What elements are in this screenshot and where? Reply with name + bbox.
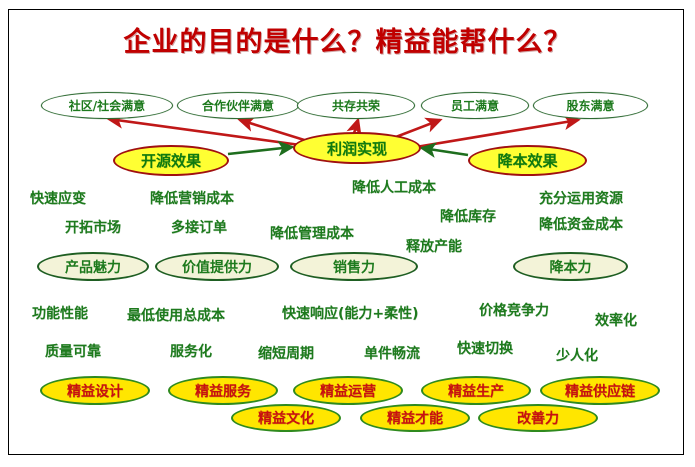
lean-node-6[interactable]: 精益文化 <box>231 404 341 432</box>
profit-node-2[interactable]: 利润实现 <box>293 132 421 164</box>
effect-text-2: 降低营销成本 <box>150 188 234 208</box>
driver-text-8: 缩短周期 <box>258 343 314 363</box>
stakeholder-node-4[interactable]: 员工满意 <box>421 92 529 119</box>
stakeholder-node-3[interactable]: 共存共荣 <box>297 92 415 119</box>
stakeholder-node-2[interactable]: 合作伙伴满意 <box>177 92 299 119</box>
lean-node-8[interactable]: 改善力 <box>478 404 598 432</box>
effect-text-4: 充分运用资源 <box>539 188 623 208</box>
lean-node-1[interactable]: 精益设计 <box>40 376 150 405</box>
lean-node-7[interactable]: 精益才能 <box>360 404 470 432</box>
effect-text-3: 降低人工成本 <box>352 177 436 197</box>
page-title: 企业的目的是什么？精益能帮什么？ <box>0 20 695 59</box>
driver-text-5: 效率化 <box>595 310 637 330</box>
driver-text-11: 少人化 <box>556 345 598 365</box>
effect-text-6: 多接订单 <box>171 217 227 237</box>
effect-text-9: 降低资金成本 <box>539 214 623 234</box>
arrow-profit-to-community <box>109 119 322 148</box>
profit-node-1[interactable]: 开源效果 <box>113 145 229 176</box>
stakeholder-node-5[interactable]: 股东满意 <box>533 92 648 119</box>
lean-node-3[interactable]: 精益运营 <box>293 376 403 405</box>
driver-text-4: 价格竞争力 <box>479 300 549 320</box>
effect-text-8: 降低库存 <box>440 206 496 226</box>
driver-text-2: 最低使用总成本 <box>127 305 225 325</box>
capability-node-3[interactable]: 销售力 <box>290 252 418 281</box>
effect-text-5: 开拓市场 <box>65 217 121 237</box>
arrow-cost-to-profit <box>422 148 468 155</box>
driver-text-6: 质量可靠 <box>45 341 101 361</box>
stakeholder-node-1[interactable]: 社区/社会满意 <box>41 92 173 119</box>
profit-node-3[interactable]: 降本效果 <box>468 145 587 176</box>
driver-text-9: 单件畅流 <box>364 343 420 363</box>
capability-node-1[interactable]: 产品魅力 <box>37 252 149 281</box>
lean-node-5[interactable]: 精益供应链 <box>540 376 660 405</box>
driver-text-7: 服务化 <box>170 341 212 361</box>
driver-text-3: 快速响应(能力+柔性) <box>282 303 419 323</box>
diagram-canvas: 企业的目的是什么？精益能帮什么？ 社区/社会满意合作伙伴满意共存共荣员工满意股东… <box>0 0 695 467</box>
driver-text-10: 快速切换 <box>457 338 513 358</box>
driver-text-1: 功能性能 <box>32 303 88 323</box>
arrow-revenue-to-profit <box>228 147 292 154</box>
capability-node-2[interactable]: 价值提供力 <box>155 252 279 281</box>
effect-text-10: 释放产能 <box>406 236 462 256</box>
effect-text-7: 降低管理成本 <box>270 223 354 243</box>
capability-node-4[interactable]: 降本力 <box>513 252 628 281</box>
effect-text-1: 快速应变 <box>30 188 86 208</box>
lean-node-2[interactable]: 精益服务 <box>168 376 278 405</box>
lean-node-4[interactable]: 精益生产 <box>421 376 531 405</box>
